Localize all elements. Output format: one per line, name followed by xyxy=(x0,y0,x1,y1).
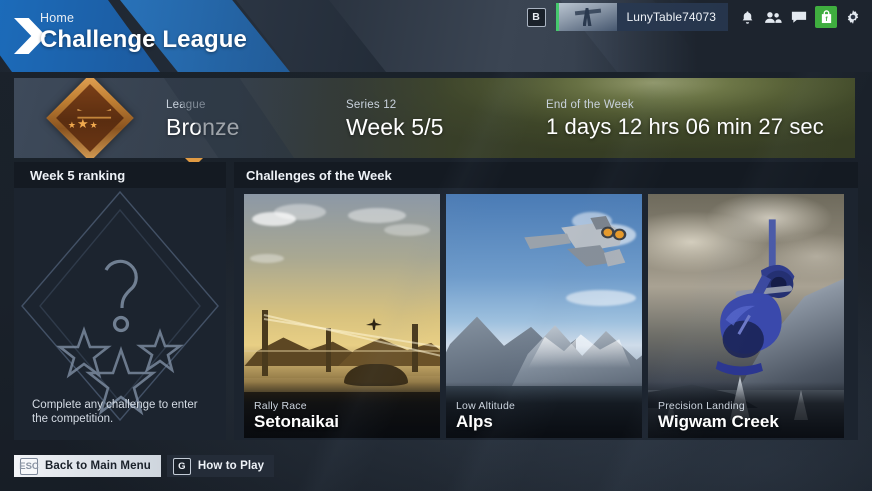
key-hint-esc: ESC xyxy=(20,458,38,475)
user-bar: B LunyTable74073 f xyxy=(527,0,872,34)
key-hint-g: G xyxy=(173,458,191,475)
gear-icon[interactable] xyxy=(840,4,866,30)
challenge-card-list: Rally Race Setonaikai xyxy=(244,194,844,438)
banner-value: Week 5/5 xyxy=(346,112,444,142)
banner-label: League xyxy=(166,98,239,112)
chat-icon[interactable] xyxy=(786,4,812,30)
profile-chip[interactable]: LunyTable74073 xyxy=(556,3,728,31)
key-badge-b[interactable]: B xyxy=(527,8,546,27)
challenge-card[interactable]: Precision Landing Wigwam Creek xyxy=(648,194,844,438)
card-name: Wigwam Creek xyxy=(658,412,779,432)
countdown-timer: 1 days 12 hrs 06 min 27 sec xyxy=(546,112,824,142)
bronze-rank-badge: ★★★ xyxy=(46,78,134,158)
how-to-play-button[interactable]: G How to Play xyxy=(167,455,274,477)
league-banner: ★★★ League Bronze Series 12 Week 5/5 End… xyxy=(14,78,855,158)
card-name: Alps xyxy=(456,412,493,432)
card-name: Setonaikai xyxy=(254,412,339,432)
card-type: Low Altitude xyxy=(456,400,515,412)
page-title-group: Home Challenge League xyxy=(40,11,247,55)
ranking-title: Week 5 ranking xyxy=(14,162,226,188)
banner-value: Bronze xyxy=(166,112,239,142)
breadcrumb[interactable]: Home xyxy=(40,11,247,25)
friends-icon[interactable] xyxy=(760,4,786,30)
challenge-card[interactable]: Rally Race Setonaikai xyxy=(244,194,440,438)
banner-slot-countdown: End of the Week 1 days 12 hrs 06 min 27 … xyxy=(546,98,824,142)
card-type: Rally Race xyxy=(254,400,307,412)
userbar-icons: f xyxy=(734,4,872,30)
challenges-title: Challenges of the Week xyxy=(234,162,858,188)
how-to-play-label: How to Play xyxy=(198,460,264,472)
banner-slot-series: Series 12 Week 5/5 xyxy=(346,98,444,142)
page-title: Challenge League xyxy=(40,25,247,55)
shop-icon[interactable]: f xyxy=(815,6,837,28)
week-ranking-panel: Week 5 ranking Complete any challenge to xyxy=(14,162,226,440)
footer-actions: ESC Back to Main Menu G How to Play xyxy=(14,455,274,477)
ranking-note: Complete any challenge to enter the comp… xyxy=(32,398,212,426)
back-to-main-menu-label: Back to Main Menu xyxy=(45,460,151,472)
bell-icon[interactable] xyxy=(734,4,760,30)
card-type: Precision Landing xyxy=(658,400,745,412)
challenge-card[interactable]: Low Altitude Alps xyxy=(446,194,642,438)
challenges-panel: Challenges of the Week xyxy=(234,162,858,440)
username: LunyTable74073 xyxy=(627,10,716,24)
back-to-main-menu-button[interactable]: ESC Back to Main Menu xyxy=(14,455,161,477)
page-header: Home Challenge League B LunyTable74073 xyxy=(0,0,872,72)
banner-label: End of the Week xyxy=(546,98,824,112)
jet-aircraft xyxy=(510,216,628,284)
helicopter xyxy=(700,212,818,392)
challenge-league-screen: Home Challenge League B LunyTable74073 xyxy=(0,0,872,491)
avatar xyxy=(559,3,617,31)
banner-slot-league: League Bronze xyxy=(166,98,239,142)
question-mark-diamond xyxy=(14,188,226,424)
banner-label: Series 12 xyxy=(346,98,444,112)
